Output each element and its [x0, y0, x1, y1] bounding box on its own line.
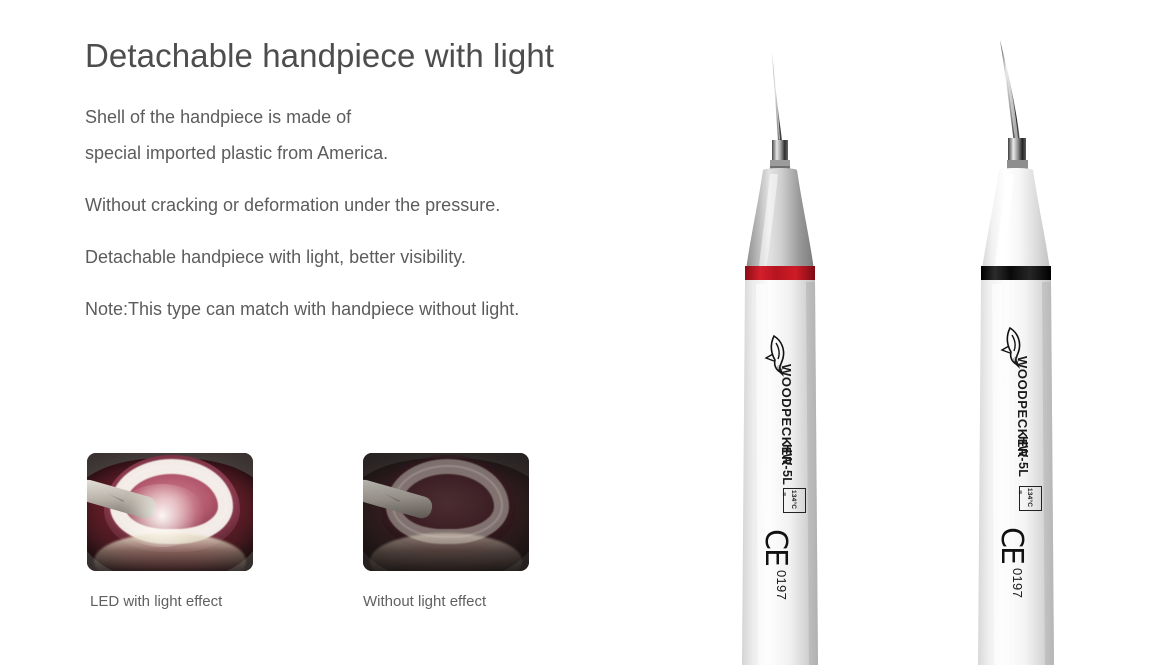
- photo-cell-without-light: Without light effect: [363, 453, 529, 610]
- scene-probe-tip: [381, 492, 400, 502]
- nose-cone: [746, 168, 814, 270]
- photo-caption: Without light effect: [363, 593, 529, 610]
- scene-probe-tip: [105, 492, 124, 502]
- scaler-tip-highlight: [1003, 48, 1018, 140]
- sterilization-temp: 134°C: [1026, 488, 1033, 507]
- page-title: Detachable handpiece with light: [85, 36, 705, 76]
- sterilization-waves: ≡: [1016, 490, 1023, 494]
- text-content-column: Detachable handpiece with light Shell of…: [85, 36, 705, 318]
- handpiece-illustration: [726, 34, 846, 665]
- photo-cell-led-with-light: LED with light effect: [87, 453, 253, 610]
- paragraph-visibility: Detachable handpiece with light, better …: [85, 248, 705, 266]
- body-line: Note:This type can match with handpiece …: [85, 300, 705, 318]
- ce-mark: CE: [760, 529, 790, 565]
- paragraph-note: Note:This type can match with handpiece …: [85, 300, 705, 318]
- scaler-tip: [772, 51, 782, 142]
- nose-cone: [982, 168, 1050, 270]
- ce-mark: CE: [996, 527, 1026, 563]
- dental-scene-lit: [87, 453, 253, 571]
- dental-scene-unlit: [363, 453, 529, 571]
- photo-comparison-row: LED with light effect Without light effe…: [87, 453, 529, 610]
- sterilization-symbol: 134°C ≡: [783, 488, 806, 513]
- paragraph-durability: Without cracking or deformation under th…: [85, 196, 705, 214]
- sterilization-symbol: 134°C ≡: [1019, 486, 1042, 511]
- body-line: special imported plastic from America.: [85, 144, 705, 162]
- photo-caption: LED with light effect: [90, 593, 253, 610]
- accent-band: [981, 266, 1051, 280]
- handpiece-hw-5l-grey: ® WOODPECKER HW-5L 134°C ≡ CE 0197: [726, 34, 846, 665]
- photo-led-with-light: [87, 453, 253, 571]
- body-line: Shell of the handpiece is made of: [85, 108, 705, 126]
- body-line: Detachable handpiece with light, better …: [85, 248, 705, 266]
- photo-without-light: [363, 453, 529, 571]
- handpiece-hw-5l-white: ® WOODPECKER HW-5L 134°C ≡ CE 0197: [960, 26, 1080, 665]
- registered-mark: ®: [777, 364, 783, 373]
- body-line: Without cracking or deformation under th…: [85, 196, 705, 214]
- sterilization-temp: 134°C: [790, 490, 797, 509]
- registered-mark: ®: [1013, 356, 1019, 365]
- sterilization-waves: ≡: [780, 492, 787, 496]
- paragraph-shell-material: Shell of the handpiece is made of specia…: [85, 108, 705, 162]
- accent-band: [745, 266, 815, 280]
